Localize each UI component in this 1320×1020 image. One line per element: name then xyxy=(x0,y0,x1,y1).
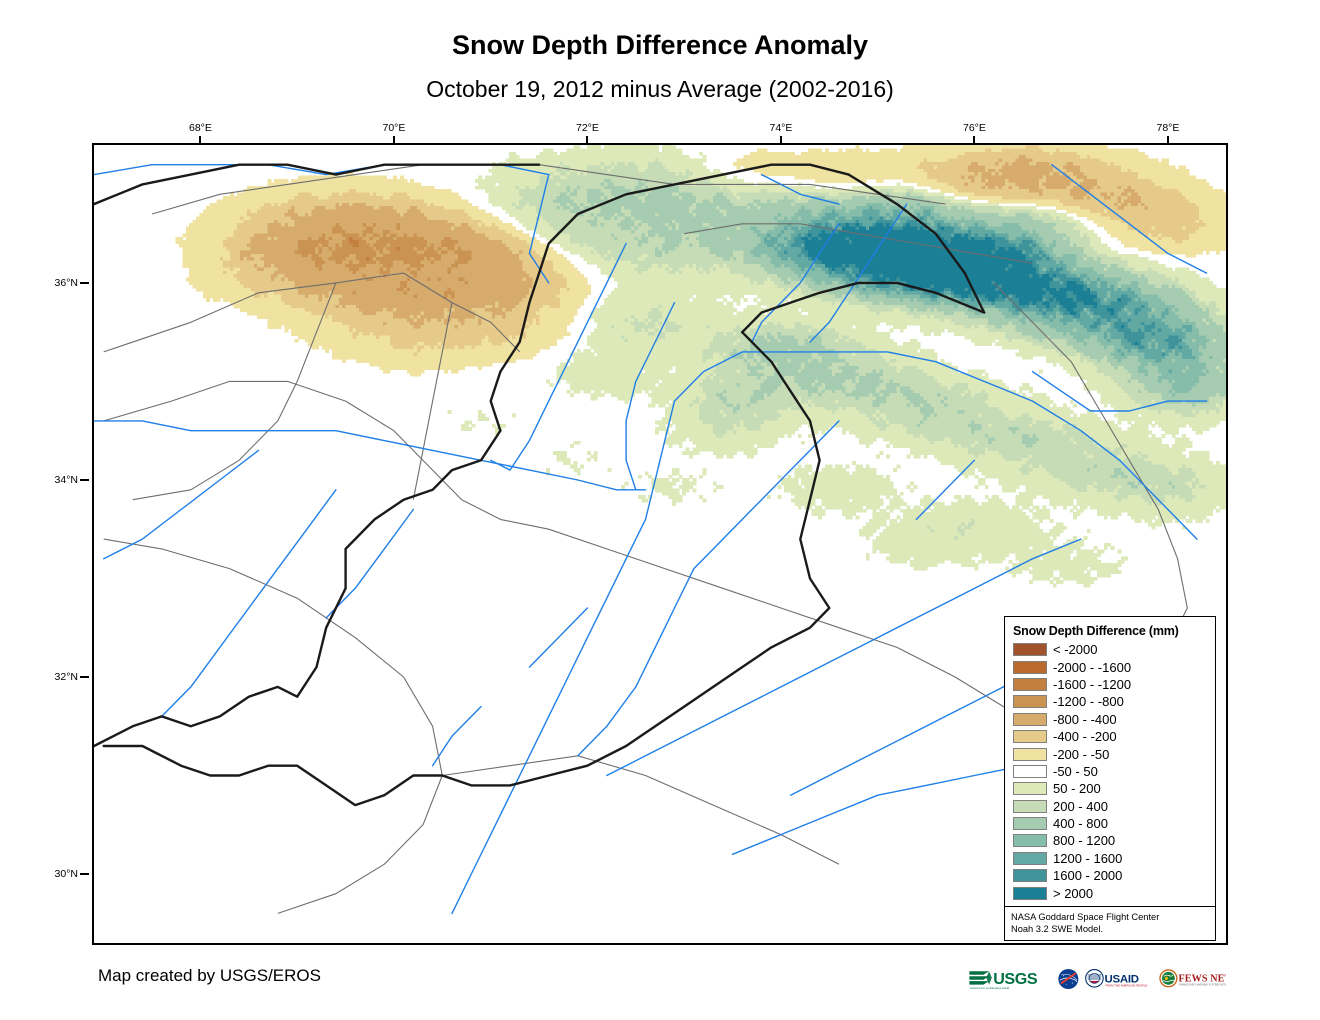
legend-swatch xyxy=(1013,782,1047,795)
lat-tick-label: 30°N xyxy=(28,868,78,880)
legend-label: 400 - 800 xyxy=(1053,817,1108,830)
legend-label: -1600 - -1200 xyxy=(1053,678,1131,691)
legend-row: 400 - 800 xyxy=(1013,815,1215,832)
lon-tick-label: 74°E xyxy=(769,122,792,134)
lon-tick-label: 76°E xyxy=(963,122,986,134)
lat-tick-mark xyxy=(80,479,89,481)
legend-label: -50 - 50 xyxy=(1053,765,1098,778)
legend-source-note: NASA Goddard Space Flight Center Noah 3.… xyxy=(1005,906,1215,936)
legend-row: < -2000 xyxy=(1013,641,1215,658)
legend-label: 200 - 400 xyxy=(1053,800,1108,813)
legend-swatch xyxy=(1013,643,1047,656)
map-credit: Map created by USGS/EROS xyxy=(98,966,321,986)
lon-tick-label: 72°E xyxy=(576,122,599,134)
legend-row: 1200 - 1600 xyxy=(1013,850,1215,867)
legend-class-list: < -2000-2000 - -1600-1600 - -1200-1200 -… xyxy=(1005,641,1215,902)
legend-label: -400 - -200 xyxy=(1053,730,1117,743)
legend-swatch xyxy=(1013,834,1047,847)
usgs-logo: USGS science for a changing world xyxy=(968,963,1051,995)
nasa-logo: NASA xyxy=(1057,963,1080,995)
legend-label: < -2000 xyxy=(1053,643,1097,656)
legend-swatch xyxy=(1013,678,1047,691)
lon-tick-label: 68°E xyxy=(189,122,212,134)
legend-swatch xyxy=(1013,730,1047,743)
legend-swatch xyxy=(1013,887,1047,900)
legend-title: Snow Depth Difference (mm) xyxy=(1013,624,1215,638)
legend-row: -400 - -200 xyxy=(1013,728,1215,745)
legend-swatch xyxy=(1013,765,1047,778)
legend-label: -200 - -50 xyxy=(1053,748,1109,761)
legend-row: 800 - 1200 xyxy=(1013,832,1215,849)
legend-label: -800 - -400 xyxy=(1053,713,1117,726)
map-page: Snow Depth Difference Anomaly October 19… xyxy=(0,0,1320,1020)
lat-tick-mark xyxy=(80,676,89,678)
lat-tick-mark xyxy=(80,282,89,284)
lon-tick-label: 78°E xyxy=(1156,122,1179,134)
legend-swatch xyxy=(1013,661,1047,674)
legend-row: > 2000 xyxy=(1013,884,1215,901)
legend-row: -1600 - -1200 xyxy=(1013,676,1215,693)
lat-tick-label: 36°N xyxy=(28,277,78,289)
legend-row: -800 - -400 xyxy=(1013,711,1215,728)
fewsnet-logo: FEWS NET FAMINE EARLY WARNING SYSTEMS NE… xyxy=(1159,963,1226,995)
legend-label: 1200 - 1600 xyxy=(1053,852,1122,865)
lon-tick-label: 70°E xyxy=(382,122,405,134)
legend-row: 1600 - 2000 xyxy=(1013,867,1215,884)
legend-row: -2000 - -1600 xyxy=(1013,658,1215,675)
legend-swatch xyxy=(1013,869,1047,882)
legend-label: -1200 - -800 xyxy=(1053,695,1124,708)
legend-swatch xyxy=(1013,800,1047,813)
page-subtitle: October 19, 2012 minus Average (2002-201… xyxy=(0,76,1320,103)
legend-swatch xyxy=(1013,695,1047,708)
legend-swatch xyxy=(1013,713,1047,726)
page-title: Snow Depth Difference Anomaly xyxy=(0,30,1320,61)
legend-row: -200 - -50 xyxy=(1013,745,1215,762)
legend-swatch xyxy=(1013,852,1047,865)
legend-row: 50 - 200 xyxy=(1013,780,1215,797)
legend-swatch xyxy=(1013,817,1047,830)
usaid-logo: USAID FROM THE AMERICAN PEOPLE xyxy=(1085,963,1152,995)
legend-label: 50 - 200 xyxy=(1053,782,1101,795)
legend-row: -1200 - -800 xyxy=(1013,693,1215,710)
lat-tick-label: 32°N xyxy=(28,671,78,683)
lat-tick-mark xyxy=(80,873,89,875)
legend-box: Snow Depth Difference (mm) < -2000-2000 … xyxy=(1004,616,1216,941)
logo-strip: USGS science for a changing world NASA U… xyxy=(968,959,1226,999)
lat-tick-label: 34°N xyxy=(28,474,78,486)
legend-note-line-2: Noah 3.2 SWE Model. xyxy=(1011,923,1215,936)
legend-note-line-1: NASA Goddard Space Flight Center xyxy=(1011,911,1215,924)
legend-label: > 2000 xyxy=(1053,887,1093,900)
legend-label: -2000 - -1600 xyxy=(1053,661,1131,674)
legend-row: -50 - 50 xyxy=(1013,763,1215,780)
legend-label: 1600 - 2000 xyxy=(1053,869,1122,882)
legend-label: 800 - 1200 xyxy=(1053,834,1115,847)
legend-swatch xyxy=(1013,748,1047,761)
legend-row: 200 - 400 xyxy=(1013,798,1215,815)
